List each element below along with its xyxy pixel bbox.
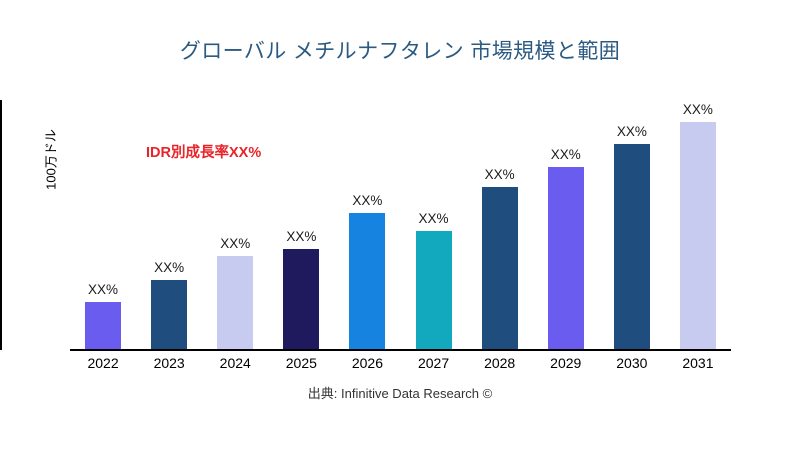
bar-value-label: XX% (217, 236, 253, 251)
bar-2026[interactable]: XX% (349, 213, 385, 349)
bar-2029[interactable]: XX% (548, 167, 584, 349)
bar-rect (614, 144, 650, 349)
x-tick-2025: 2025 (268, 355, 334, 371)
bar-2028[interactable]: XX% (482, 187, 518, 349)
bar-value-label: XX% (548, 147, 584, 162)
bar-rect (548, 167, 584, 349)
bar-rect (85, 302, 121, 349)
bar-value-label: XX% (680, 102, 716, 117)
bar-rect (349, 213, 385, 349)
bar-rect (283, 249, 319, 349)
bar-rect (217, 256, 253, 349)
y-axis-label: 100万ドル (41, 90, 60, 230)
bar-value-label: XX% (349, 193, 385, 208)
bar-2031[interactable]: XX% (680, 122, 716, 349)
bar-2024[interactable]: XX% (217, 256, 253, 349)
x-tick-2023: 2023 (136, 355, 202, 371)
bar-value-label: XX% (151, 260, 187, 275)
x-tick-2030: 2030 (599, 355, 665, 371)
bar-rect (416, 231, 452, 349)
x-tick-2031: 2031 (665, 355, 731, 371)
bar-value-label: XX% (614, 124, 650, 139)
x-tick-2029: 2029 (533, 355, 599, 371)
x-tick-2028: 2028 (467, 355, 533, 371)
market-size-bar-chart: グローバル メチルナフタレン 市場規模と範囲 100万ドル IDR別成長率XX%… (0, 0, 800, 450)
bar-rect (151, 280, 187, 349)
x-tick-2027: 2027 (401, 355, 467, 371)
bar-value-label: XX% (85, 282, 121, 297)
bar-value-label: XX% (416, 211, 452, 226)
x-tick-2022: 2022 (70, 355, 136, 371)
y-axis-line (0, 100, 2, 350)
source-note: 出典: Infinitive Data Research © (0, 383, 800, 402)
bar-rect (482, 187, 518, 349)
bar-rect (680, 122, 716, 349)
bar-2023[interactable]: XX% (151, 280, 187, 349)
x-tick-2024: 2024 (202, 355, 268, 371)
bar-2025[interactable]: XX% (283, 249, 319, 349)
bar-2022[interactable]: XX% (85, 302, 121, 349)
bar-2030[interactable]: XX% (614, 144, 650, 349)
chart-title: グローバル メチルナフタレン 市場規模と範囲 (0, 35, 800, 65)
x-tick-2026: 2026 (334, 355, 400, 371)
bar-value-label: XX% (283, 229, 319, 244)
bar-value-label: XX% (482, 167, 518, 182)
bar-2027[interactable]: XX% (416, 231, 452, 349)
